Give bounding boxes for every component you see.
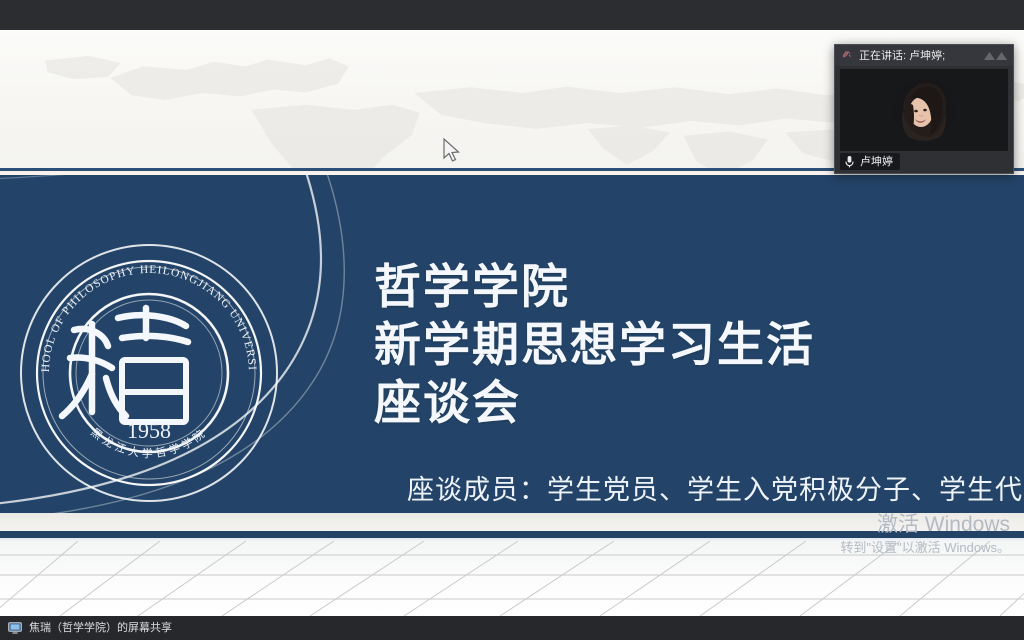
- windows-taskbar: 焦瑞（哲学学院）的屏幕共享: [0, 616, 1024, 640]
- slide-subtitle: 座谈成员：学生党员、学生入党积极分子、学生代表: [407, 473, 1024, 507]
- participant-name-chip: 卢坤婷: [840, 153, 900, 170]
- video-tile-header[interactable]: 正在讲话: 卢坤婷;: [835, 45, 1013, 66]
- self-view-video-tile[interactable]: 正在讲话: 卢坤婷; 卢坤: [834, 44, 1014, 174]
- double-chevron-collapse-icon[interactable]: [983, 50, 1009, 62]
- perspective-grid-floor: [0, 541, 1024, 616]
- slide-title-block: 哲学学院 新学期思想学习生活 座谈会: [374, 258, 1014, 432]
- taskbar-item-label: 焦瑞（哲学学院）的屏幕共享: [29, 622, 172, 635]
- university-emblem: SCHOOL OF PHILOSOPHY HEILONGJIANG UNIVER…: [18, 242, 280, 504]
- speaking-indicator-label: 正在讲话: 卢坤婷;: [859, 50, 977, 62]
- slide-title-line-2: 新学期思想学习生活: [374, 316, 1014, 374]
- grid-lines: [0, 541, 1024, 616]
- mouse-pointer-icon: [441, 138, 461, 164]
- video-tile-body[interactable]: [840, 69, 1008, 151]
- slide-title-line-1: 哲学学院: [374, 258, 1014, 316]
- avatar-photo: [893, 79, 955, 141]
- emblem-artwork: SCHOOL OF PHILOSOPHY HEILONGJIANG UNIVER…: [18, 242, 280, 504]
- meeting-top-bar: [0, 0, 1024, 30]
- slide-title-line-3: 座谈会: [374, 374, 1014, 432]
- taskbar-item-screen-share[interactable]: 焦瑞（哲学学院）的屏幕共享: [0, 616, 182, 640]
- microphone-icon: [844, 155, 855, 168]
- divider-rule-navy-bottom: [0, 531, 1024, 538]
- participant-name-label: 卢坤婷: [860, 156, 893, 168]
- emblem-year: 1958: [127, 418, 171, 443]
- monitor-share-icon: [8, 622, 22, 634]
- sound-active-icon: [840, 49, 853, 62]
- divider-strip-light: [0, 513, 1024, 531]
- avatar: [893, 79, 955, 141]
